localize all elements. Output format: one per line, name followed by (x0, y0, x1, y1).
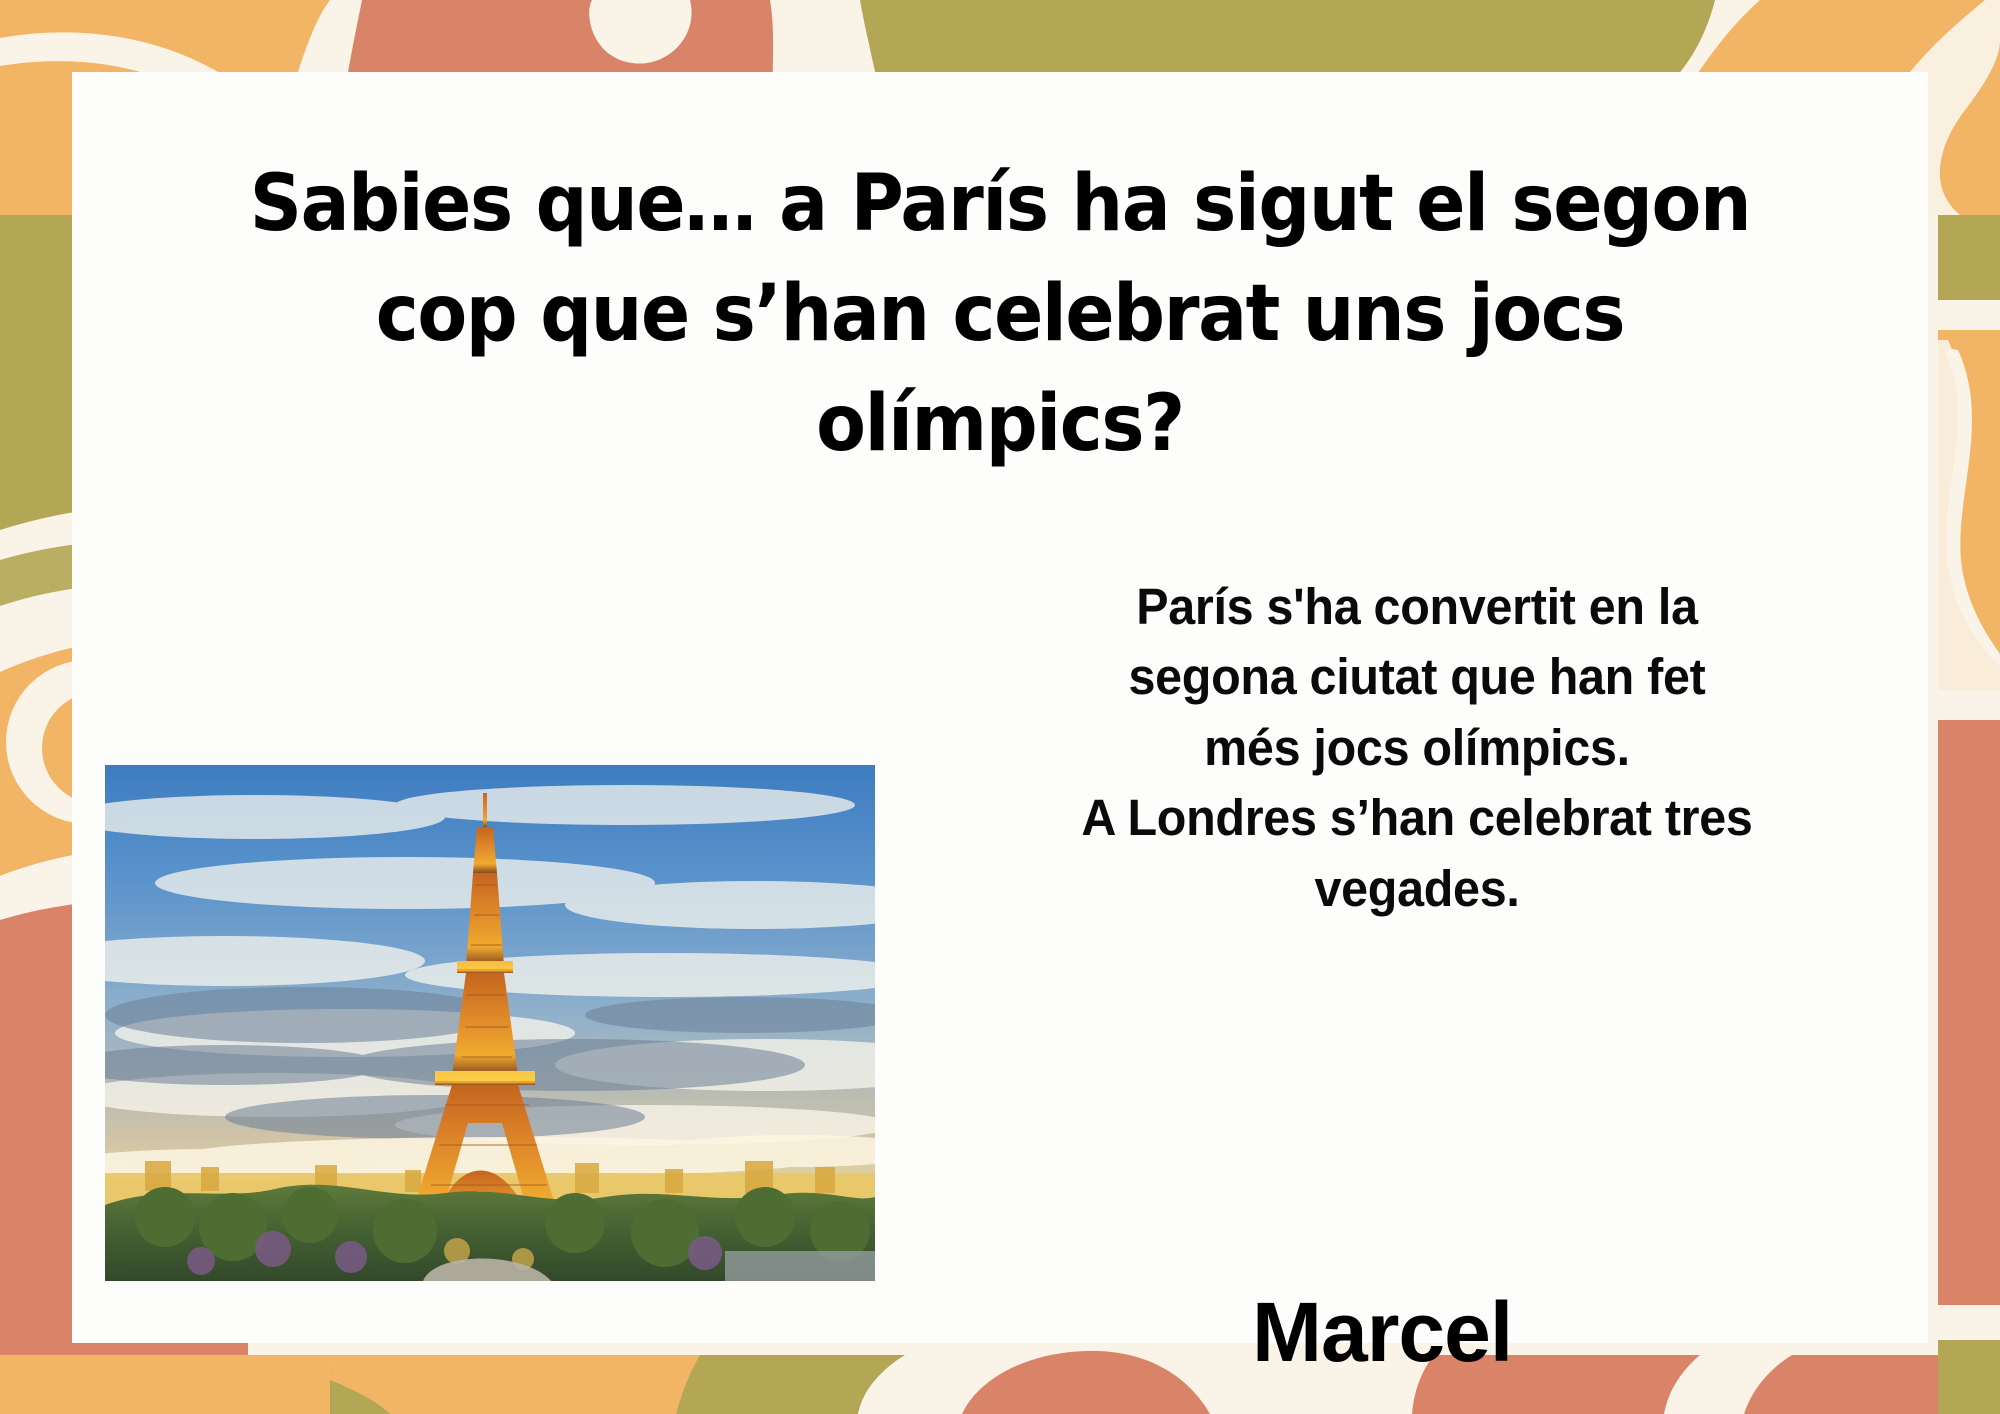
body-line-2: segona ciutat que han fet (999, 642, 1835, 712)
body-line-5: vegades. (999, 854, 1835, 924)
page-title: Sabies que… a París ha sigut el segon co… (174, 150, 1826, 480)
body-paragraph: París s'ha convertit en la segona ciutat… (999, 572, 1835, 924)
slide-canvas: Sabies que… a París ha sigut el segon co… (0, 0, 2000, 1414)
author-signature: Marcel (1252, 1290, 1512, 1374)
eiffel-tower-photo (105, 765, 875, 1281)
body-line-3: més jocs olímpics. (999, 713, 1835, 783)
title-line-3: olímpics? (816, 379, 1184, 469)
content-card: Sabies que… a París ha sigut el segon co… (72, 72, 1928, 1343)
body-line-4: A Londres s’han celebrat tres (999, 783, 1835, 853)
title-line-2: cop que s’han celebrat uns jocs (376, 269, 1624, 359)
title-line-1: Sabies que… a París ha sigut el segon (250, 159, 1750, 249)
body-line-1: París s'ha convertit en la (999, 572, 1835, 642)
